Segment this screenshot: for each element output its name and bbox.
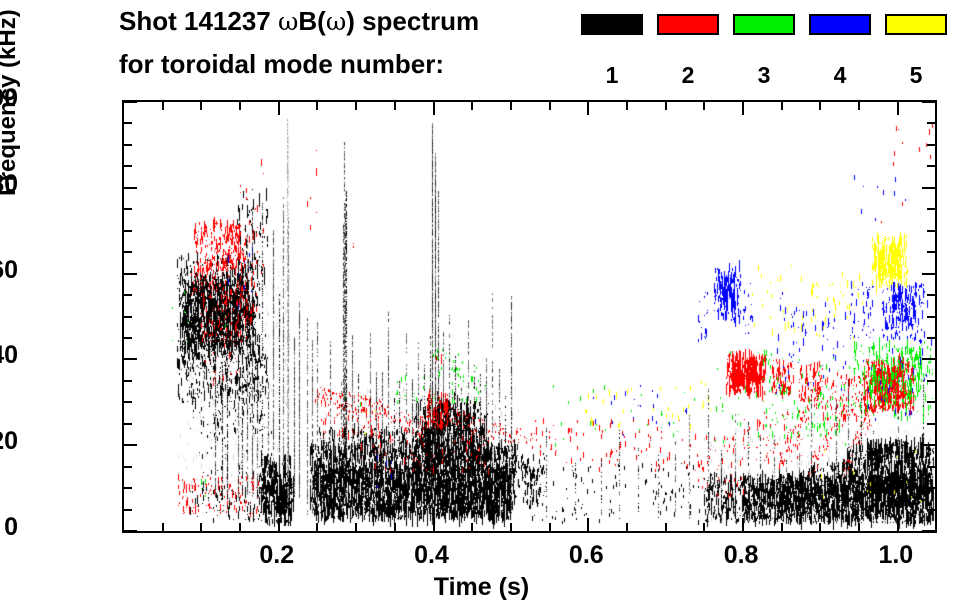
legend-swatch-3 bbox=[733, 14, 795, 35]
title-shot-text: Shot 141237 bbox=[119, 6, 278, 36]
y-tick-label-40: 40 bbox=[0, 343, 18, 368]
y-minor-tick bbox=[927, 509, 935, 511]
y-minor-tick bbox=[124, 423, 132, 425]
x-tick-0.2 bbox=[278, 518, 280, 531]
x-minor-tick bbox=[239, 523, 241, 531]
y-minor-tick bbox=[124, 144, 132, 146]
y-minor-tick bbox=[927, 337, 935, 339]
y-tick-label-20: 20 bbox=[0, 429, 18, 454]
x-minor-tick bbox=[665, 102, 667, 110]
omega-symbol-2: ω bbox=[326, 7, 346, 36]
x-minor-tick bbox=[549, 102, 551, 110]
x-minor-tick bbox=[626, 523, 628, 531]
x-tick-label-0.2: 0.2 bbox=[217, 541, 337, 570]
x-minor-tick bbox=[200, 102, 202, 110]
x-minor-tick bbox=[394, 523, 396, 531]
x-tick-0.2 bbox=[278, 102, 280, 115]
x-tick-label-0.6: 0.6 bbox=[526, 541, 646, 570]
x-tick-0.6 bbox=[587, 518, 589, 531]
y-minor-tick bbox=[124, 122, 132, 124]
x-minor-tick bbox=[239, 102, 241, 110]
y-minor-tick bbox=[927, 466, 935, 468]
legend-swatch-2 bbox=[657, 14, 719, 35]
x-axis-title: Time (s) bbox=[0, 573, 963, 602]
y-minor-tick bbox=[927, 122, 935, 124]
y-minor-tick bbox=[927, 230, 935, 232]
figure-title-line1: Shot 141237 ωB(ω) spectrum bbox=[119, 6, 479, 37]
x-minor-tick bbox=[781, 102, 783, 110]
y-tick-label-60: 60 bbox=[0, 258, 18, 283]
spectrogram-figure: Shot 141237 ωB(ω) spectrum for toroidal … bbox=[0, 0, 963, 615]
y-tick-label-80: 80 bbox=[0, 172, 18, 197]
x-minor-tick bbox=[858, 102, 860, 110]
y-minor-tick bbox=[124, 208, 132, 210]
y-minor-tick bbox=[124, 316, 132, 318]
x-minor-tick bbox=[703, 523, 705, 531]
x-minor-tick bbox=[355, 523, 357, 531]
x-minor-tick bbox=[471, 102, 473, 110]
y-minor-tick bbox=[124, 380, 132, 382]
y-minor-tick bbox=[927, 487, 935, 489]
x-minor-tick bbox=[162, 523, 164, 531]
legend-label-5: 5 bbox=[885, 62, 947, 89]
y-tick-label-100: 100 bbox=[0, 86, 18, 111]
x-tick-0.8 bbox=[742, 518, 744, 531]
y-minor-tick bbox=[927, 208, 935, 210]
y-tick-40 bbox=[922, 358, 935, 360]
y-tick-0 bbox=[922, 530, 935, 532]
x-minor-tick bbox=[510, 523, 512, 531]
x-tick-label-0.4: 0.4 bbox=[372, 541, 492, 570]
y-minor-tick bbox=[927, 316, 935, 318]
x-minor-tick bbox=[858, 523, 860, 531]
y-minor-tick bbox=[927, 251, 935, 253]
x-minor-tick bbox=[316, 102, 318, 110]
y-minor-tick bbox=[927, 144, 935, 146]
x-minor-tick bbox=[819, 102, 821, 110]
y-minor-tick bbox=[927, 423, 935, 425]
y-minor-tick bbox=[124, 165, 132, 167]
x-tick-label-1: 1.0 bbox=[836, 541, 956, 570]
plot-area bbox=[122, 100, 937, 533]
spectrogram-canvas bbox=[124, 102, 935, 531]
y-tick-60 bbox=[922, 273, 935, 275]
x-minor-tick bbox=[510, 102, 512, 110]
x-minor-tick bbox=[162, 102, 164, 110]
x-tick-1 bbox=[897, 518, 899, 531]
y-minor-tick bbox=[124, 401, 132, 403]
x-minor-tick bbox=[665, 523, 667, 531]
x-minor-tick bbox=[703, 102, 705, 110]
x-minor-tick bbox=[200, 523, 202, 531]
y-minor-tick bbox=[124, 487, 132, 489]
y-minor-tick bbox=[927, 380, 935, 382]
x-tick-1 bbox=[897, 102, 899, 115]
legend-label-1: 1 bbox=[581, 62, 643, 89]
y-minor-tick bbox=[124, 294, 132, 296]
y-minor-tick bbox=[927, 165, 935, 167]
legend-label-4: 4 bbox=[809, 62, 871, 89]
y-tick-20 bbox=[922, 444, 935, 446]
y-tick-20 bbox=[124, 444, 137, 446]
y-minor-tick bbox=[124, 509, 132, 511]
y-minor-tick bbox=[927, 401, 935, 403]
legend-swatch-4 bbox=[809, 14, 871, 35]
x-minor-tick bbox=[549, 523, 551, 531]
x-minor-tick bbox=[626, 102, 628, 110]
x-minor-tick bbox=[471, 523, 473, 531]
y-tick-100 bbox=[922, 101, 935, 103]
x-tick-0.6 bbox=[587, 102, 589, 115]
x-minor-tick bbox=[355, 102, 357, 110]
x-tick-0.4 bbox=[433, 518, 435, 531]
y-tick-label-0: 0 bbox=[0, 515, 18, 540]
legend-label-3: 3 bbox=[733, 62, 795, 89]
omega-symbol-1: ω bbox=[278, 7, 298, 36]
y-tick-80 bbox=[124, 187, 137, 189]
x-tick-0.8 bbox=[742, 102, 744, 115]
x-tick-label-0.8: 0.8 bbox=[681, 541, 801, 570]
y-minor-tick bbox=[124, 337, 132, 339]
y-minor-tick bbox=[927, 294, 935, 296]
figure-title-line2: for toroidal mode number: bbox=[119, 49, 444, 80]
x-minor-tick bbox=[394, 102, 396, 110]
y-tick-100 bbox=[124, 101, 137, 103]
y-tick-0 bbox=[124, 530, 137, 532]
title-b-text: B( bbox=[298, 6, 325, 36]
x-minor-tick bbox=[316, 523, 318, 531]
x-minor-tick bbox=[781, 523, 783, 531]
y-minor-tick bbox=[124, 251, 132, 253]
legend-swatch-1 bbox=[581, 14, 643, 35]
y-minor-tick bbox=[124, 466, 132, 468]
y-tick-80 bbox=[922, 187, 935, 189]
y-minor-tick bbox=[124, 230, 132, 232]
legend-swatch-5 bbox=[885, 14, 947, 35]
title-spectrum-text: ) spectrum bbox=[346, 6, 479, 36]
x-minor-tick bbox=[819, 523, 821, 531]
y-tick-60 bbox=[124, 273, 137, 275]
x-tick-0.4 bbox=[433, 102, 435, 115]
legend-label-2: 2 bbox=[657, 62, 719, 89]
y-tick-40 bbox=[124, 358, 137, 360]
